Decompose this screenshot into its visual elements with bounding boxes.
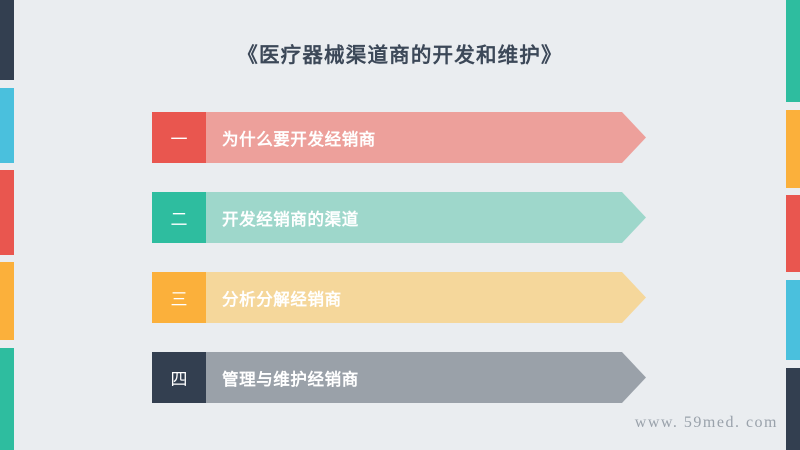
edge-strip-left-orange xyxy=(0,262,14,340)
edge-strip-right-navy xyxy=(786,368,800,450)
agenda-index-1: 一 xyxy=(152,112,206,163)
edge-strip-right-red xyxy=(786,195,800,272)
agenda-label-3: 分析分解经销商 xyxy=(222,272,342,323)
edge-strip-right-orange xyxy=(786,110,800,188)
agenda-index-2: 二 xyxy=(152,192,206,243)
edge-strip-left-teal xyxy=(0,348,14,450)
edge-strip-left-cyan xyxy=(0,88,14,163)
presentation-slide: 《医疗器械渠道商的开发和维护》 一 为什么要开发经销商 二 开发经销商的渠道 三… xyxy=(0,0,800,450)
slide-title: 《医疗器械渠道商的开发和维护》 xyxy=(0,38,800,68)
edge-strip-left-red xyxy=(0,170,14,255)
agenda-index-4: 四 xyxy=(152,352,206,403)
site-watermark: www. 59med. com xyxy=(635,414,778,432)
agenda-label-2: 开发经销商的渠道 xyxy=(222,192,359,243)
agenda-label-4: 管理与维护经销商 xyxy=(222,352,359,403)
agenda-label-1: 为什么要开发经销商 xyxy=(222,112,376,163)
edge-strip-right-cyan xyxy=(786,280,800,360)
agenda-index-3: 三 xyxy=(152,272,206,323)
